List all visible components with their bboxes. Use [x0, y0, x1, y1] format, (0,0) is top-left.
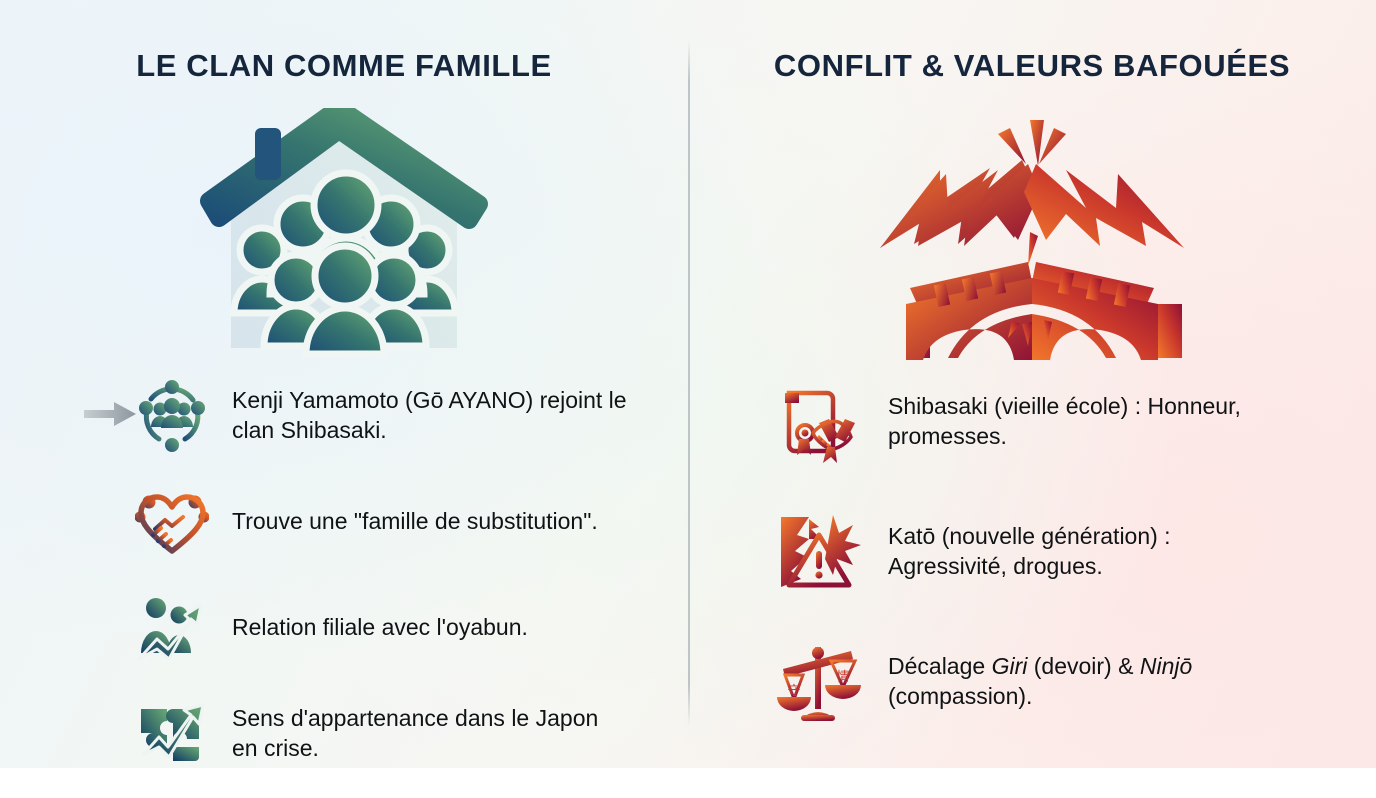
infographic-root: LE CLAN COMME FAMILLE: [0, 0, 1376, 768]
right-items-list: Shibasaki (vieille école) : Honneur, pro…: [688, 374, 1376, 764]
label-part: Décalage: [888, 653, 992, 679]
list-item-label: Sens d'appartenance dans le Japon en cri…: [232, 704, 628, 764]
list-item-label: Relation filiale avec l'oyabun.: [232, 613, 528, 643]
label-part: (devoir) &: [1027, 653, 1139, 679]
certificate-handshake-icon: [770, 374, 866, 470]
list-item[interactable]: Katō (nouvelle génération) : Agressivité…: [770, 504, 1316, 600]
list-item-label: Décalage Giri (devoir) & Ninjō (compassi…: [888, 652, 1258, 712]
list-item-label: Shibasaki (vieille école) : Honneur, pro…: [888, 392, 1258, 452]
left-items-list: Kenji Yamamoto (Gō AYANO) rejoint le cla…: [0, 374, 688, 798]
broken-wall-warning-icon: [770, 504, 866, 600]
list-item[interactable]: Relation filiale avec l'oyabun.: [130, 586, 628, 670]
puzzle-pieces-growth-icon: [130, 692, 214, 776]
hero-house-with-family-group: [0, 108, 688, 360]
list-item-label: Katō (nouvelle génération) : Agressivité…: [888, 522, 1258, 582]
column-left: LE CLAN COMME FAMILLE: [0, 0, 688, 768]
clashing-arrows-broken-bridge-icon: [862, 108, 1202, 360]
list-item[interactable]: Shibasaki (vieille école) : Honneur, pro…: [770, 374, 1316, 470]
list-item[interactable]: Sens d'appartenance dans le Japon en cri…: [130, 692, 628, 776]
column-left-title: LE CLAN COMME FAMILLE: [0, 48, 688, 84]
label-part-italic: Ninjō: [1140, 653, 1192, 679]
list-item[interactable]: 守 情 Décalage Giri (devoir) & Ninjō (comp…: [770, 634, 1316, 730]
label-part: (compassion).: [888, 683, 1032, 709]
list-item-label: Kenji Yamamoto (Gō AYANO) rejoint le cla…: [232, 386, 628, 446]
hero-clashing-arrows-broken-bridge: [688, 108, 1376, 360]
list-item[interactable]: Trouve une "famille de substitution".: [130, 480, 628, 564]
svg-text:情: 情: [836, 670, 849, 685]
list-item-label: Trouve une "famille de substitution".: [232, 507, 598, 537]
two-people-growth-arrow-icon: [130, 586, 214, 670]
list-item[interactable]: Kenji Yamamoto (Gō AYANO) rejoint le cla…: [130, 374, 628, 458]
unbalanced-scales-icon: 守 情: [770, 634, 866, 730]
heart-handshake-icon: [130, 480, 214, 564]
label-part-italic: Giri: [992, 653, 1028, 679]
svg-text:守: 守: [787, 684, 800, 699]
column-right-title: CONFLIT & VALEURS BAFOUÉES: [688, 48, 1376, 84]
people-network-circle-icon: [130, 374, 214, 458]
house-with-family-group-icon: [179, 108, 509, 358]
column-right: CONFLIT & VALEURS BAFOUÉES: [688, 0, 1376, 768]
